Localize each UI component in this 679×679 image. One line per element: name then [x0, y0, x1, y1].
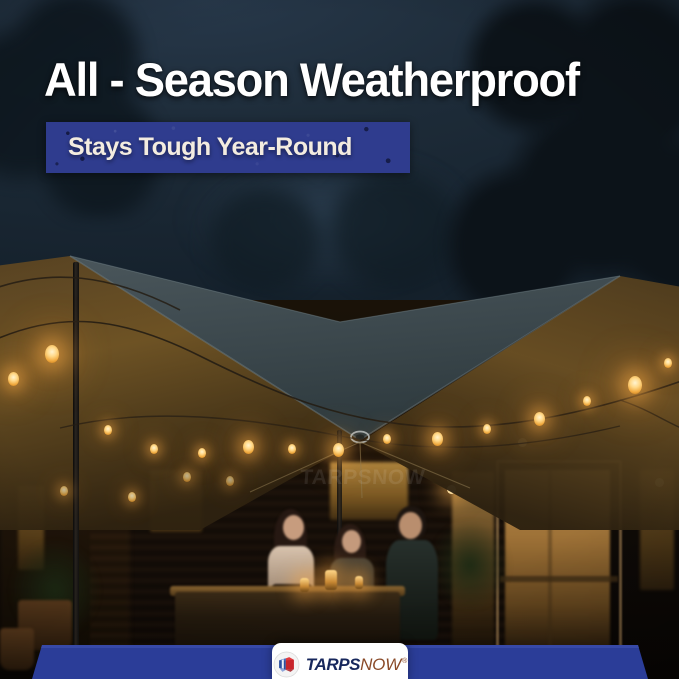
candle-left — [300, 578, 309, 592]
page-title: All - Season Weatherproof — [44, 52, 579, 107]
string-light-bulb — [104, 425, 112, 435]
string-light-bulb — [198, 448, 206, 458]
string-light-bulb — [8, 372, 19, 386]
string-light-bulb — [183, 472, 191, 482]
string-light-wires — [0, 250, 679, 550]
door-mullion-horizontal — [500, 576, 618, 582]
string-light-bulb — [583, 396, 591, 406]
light-wire-right — [620, 400, 679, 432]
string-light-bulb — [243, 440, 254, 454]
string-light-bulb — [128, 492, 136, 502]
tarps-now-circle-logo-icon — [273, 651, 300, 678]
brand-name-bold: TARPS — [306, 656, 360, 673]
brand-logo[interactable]: TARPSNOW® — [272, 643, 408, 679]
light-wire-upper-left — [0, 277, 180, 310]
brand-name-light: NOW — [360, 656, 401, 673]
logo-white-stripe — [282, 659, 284, 669]
string-light-bulb — [628, 376, 642, 394]
subheadline-banner: Stays Tough Year-Round — [46, 122, 410, 173]
brand-logo-text: TARPSNOW® — [306, 656, 407, 673]
string-light-bulb — [150, 444, 158, 454]
string-light-bulb — [45, 345, 59, 363]
string-light-bulb — [288, 444, 296, 454]
string-light-bulb — [333, 443, 344, 457]
string-light-bulb — [483, 424, 491, 434]
registered-mark: ® — [402, 658, 407, 665]
candle-center — [325, 570, 337, 590]
ad-creative: TARPSNOW All - Season Weatherproof Stays… — [0, 0, 679, 679]
subheadline-text: Stays Tough Year-Round — [68, 122, 352, 173]
tree-silhouette-left — [0, 0, 170, 220]
string-light-bulb — [383, 434, 391, 444]
string-light-bulb — [432, 432, 443, 446]
candle-right — [355, 576, 363, 589]
light-wire-front — [0, 321, 679, 427]
string-light-bulb — [226, 476, 234, 486]
string-light-bulb — [534, 412, 545, 426]
string-light-bulb — [60, 486, 68, 496]
string-light-bulb — [664, 358, 672, 368]
